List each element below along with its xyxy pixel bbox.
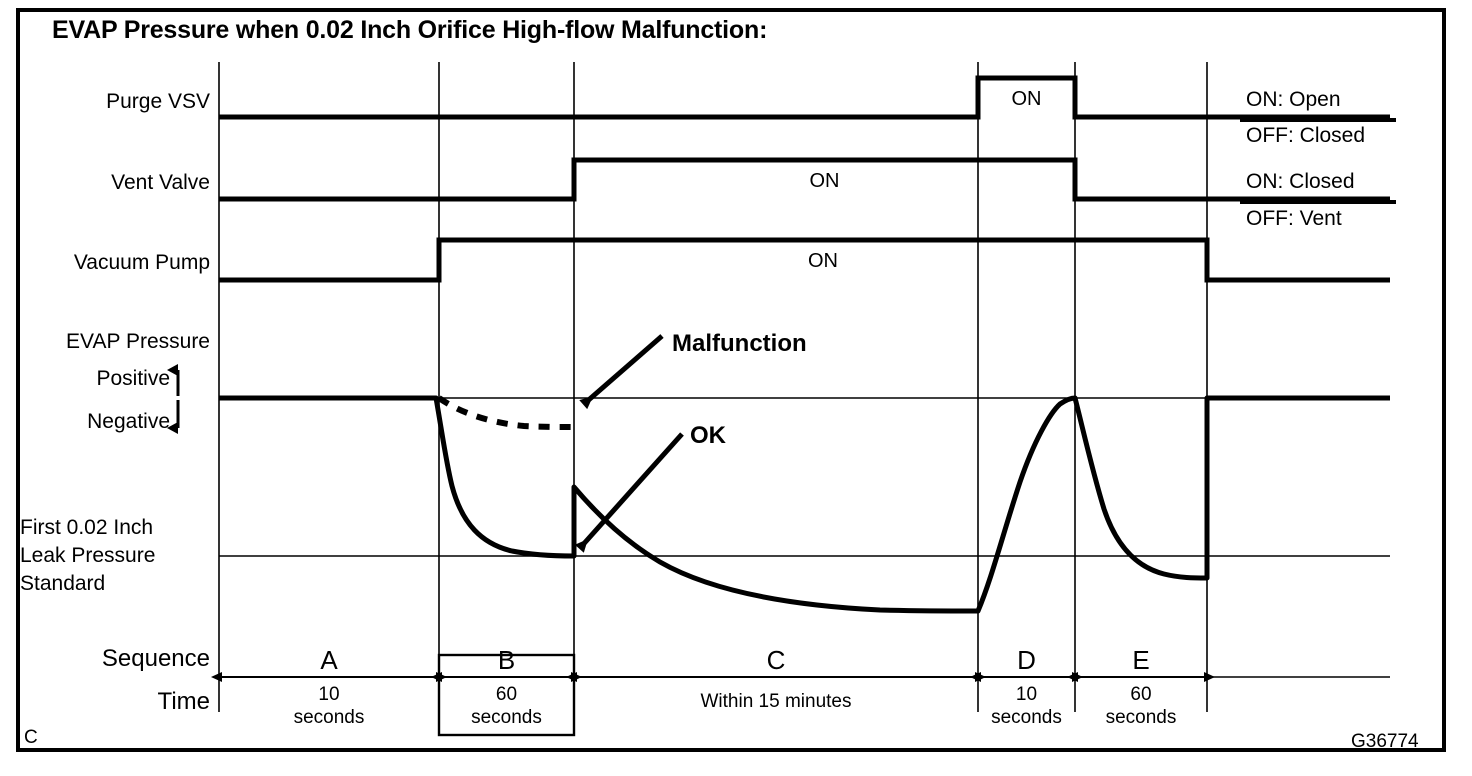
pressure-curve-ok — [219, 398, 1390, 611]
timing-diagram-graphics — [0, 0, 1472, 776]
ok-leader-arrow-icon — [580, 434, 682, 548]
malfunction-leader-arrow-icon — [584, 336, 662, 404]
pressure-curve-malfunction — [439, 398, 574, 427]
waveform-vacuum-pump — [219, 240, 1390, 280]
sequence-b-box — [439, 655, 574, 735]
figure-canvas: EVAP Pressure when 0.02 Inch Orifice Hig… — [0, 0, 1472, 776]
waveform-purge-vsv — [219, 78, 1390, 117]
waveform-vent-valve — [219, 160, 1390, 199]
